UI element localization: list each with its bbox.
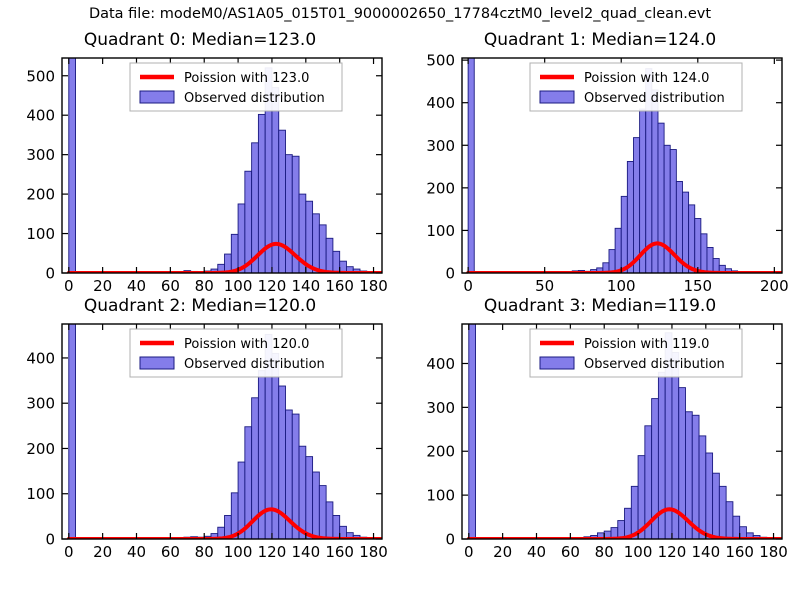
- subplot-title-quadrant-1: Quadrant 1: Median=124.0: [400, 30, 800, 50]
- x-tick-label: 40: [127, 277, 146, 295]
- histogram-bar: [299, 446, 306, 539]
- y-tick-label: 500: [26, 67, 55, 85]
- x-tick-label: 100: [624, 543, 653, 561]
- histogram-bar: [664, 145, 670, 273]
- legend-patch-swatch: [540, 91, 574, 103]
- y-tick-label: 100: [426, 487, 455, 505]
- histogram-bar: [238, 204, 245, 273]
- histogram-bar: [231, 234, 238, 273]
- x-tick-label: 150: [683, 277, 712, 295]
- histogram-bar: [609, 250, 615, 273]
- histogram-bar: [69, 30, 76, 273]
- x-tick-label: 160: [725, 543, 754, 561]
- y-tick-label: 500: [426, 52, 455, 70]
- x-tick-label: 20: [93, 277, 112, 295]
- histogram-bar: [621, 196, 627, 273]
- x-tick-label: 140: [291, 277, 320, 295]
- histogram-bar: [699, 436, 706, 539]
- x-tick-label: 40: [527, 543, 546, 561]
- y-tick-label: 200: [426, 443, 455, 461]
- y-tick-label: 100: [26, 225, 55, 243]
- histogram-bar: [245, 171, 252, 273]
- x-tick-label: 60: [161, 543, 180, 561]
- histogram-bar: [326, 502, 333, 539]
- y-tick-label: 0: [445, 531, 455, 549]
- x-tick-label: 20: [493, 543, 512, 561]
- y-tick-label: 0: [45, 265, 55, 283]
- histogram-bar: [713, 473, 720, 539]
- y-tick-label: 100: [26, 485, 55, 503]
- subplot-quadrant-1: Quadrant 1: Median=124.0 050100150200010…: [400, 30, 800, 300]
- histogram-bar: [313, 214, 320, 273]
- histogram-bar: [706, 453, 713, 539]
- legend-label-observed: Observed distribution: [184, 91, 325, 106]
- histogram-bar: [285, 155, 292, 273]
- histogram-bar: [468, 30, 474, 273]
- y-tick-label: 200: [26, 186, 55, 204]
- figure-canvas: Data file: modeM0/AS1A05_015T01_90000026…: [0, 0, 800, 600]
- plot-area-quadrant-1: 0501001502000100200300400500Poission wit…: [400, 30, 800, 300]
- y-tick-label: 200: [426, 179, 455, 197]
- histogram-bar: [319, 486, 326, 539]
- x-tick-label: 50: [535, 277, 554, 295]
- legend[interactable]: Poission with 120.0Observed distribution: [130, 329, 342, 377]
- legend-label-poisson: Poission with 124.0: [584, 71, 709, 86]
- x-tick-label: 140: [691, 543, 720, 561]
- y-tick-label: 0: [445, 265, 455, 283]
- y-tick-label: 400: [26, 107, 55, 125]
- legend-label-poisson: Poission with 120.0: [184, 337, 309, 352]
- plot-area-quadrant-2: 0204060801001201401601800100200300400Poi…: [0, 296, 400, 566]
- subplot-quadrant-0: Quadrant 0: Median=123.0 020406080100120…: [0, 30, 400, 300]
- histogram-bar: [658, 123, 664, 273]
- histogram-bar: [719, 486, 726, 539]
- histogram-bar: [692, 415, 699, 539]
- histogram-bar: [319, 225, 326, 273]
- y-tick-label: 100: [426, 222, 455, 240]
- y-tick-label: 0: [45, 531, 55, 549]
- legend-patch-swatch: [540, 357, 574, 369]
- x-tick-label: 200: [760, 277, 789, 295]
- x-tick-label: 140: [291, 543, 320, 561]
- legend-label-observed: Observed distribution: [584, 91, 725, 106]
- histogram-bar: [313, 472, 320, 539]
- x-tick-label: 60: [561, 543, 580, 561]
- histogram-bar: [326, 238, 333, 273]
- histogram-bar: [333, 251, 340, 273]
- histogram-bar: [707, 247, 713, 273]
- x-tick-label: 100: [224, 277, 253, 295]
- histogram-bar: [306, 457, 313, 539]
- x-tick-label: 80: [595, 543, 614, 561]
- figure-suptitle: Data file: modeM0/AS1A05_015T01_90000026…: [0, 6, 800, 22]
- histogram-bar: [689, 205, 695, 273]
- x-tick-label: 0: [64, 543, 74, 561]
- legend-patch-swatch: [140, 91, 174, 103]
- x-tick-label: 120: [258, 543, 287, 561]
- y-tick-label: 300: [426, 137, 455, 155]
- x-tick-label: 40: [127, 543, 146, 561]
- y-tick-label: 400: [426, 355, 455, 373]
- histogram-bar: [279, 130, 286, 273]
- subplot-title-quadrant-2: Quadrant 2: Median=120.0: [0, 296, 400, 316]
- histogram-bar: [292, 414, 299, 539]
- legend-label-poisson: Poission with 123.0: [184, 71, 309, 86]
- x-tick-label: 0: [464, 543, 474, 561]
- y-tick-label: 300: [26, 395, 55, 413]
- legend[interactable]: Poission with 124.0Observed distribution: [530, 63, 742, 111]
- plot-area-quadrant-3: 0204060801001201401601800100200300400Poi…: [400, 296, 800, 566]
- x-tick-label: 80: [195, 277, 214, 295]
- x-tick-label: 0: [64, 277, 74, 295]
- x-tick-label: 100: [224, 543, 253, 561]
- histogram-bar: [633, 138, 639, 273]
- legend-label-observed: Observed distribution: [184, 357, 325, 372]
- y-tick-label: 400: [426, 94, 455, 112]
- legend[interactable]: Poission with 123.0Observed distribution: [130, 63, 342, 111]
- x-tick-label: 20: [93, 543, 112, 561]
- legend[interactable]: Poission with 119.0Observed distribution: [530, 329, 742, 377]
- legend-patch-swatch: [140, 357, 174, 369]
- histogram-bar: [615, 228, 621, 273]
- x-tick-label: 120: [258, 277, 287, 295]
- y-tick-label: 300: [26, 146, 55, 164]
- histogram-bar: [695, 219, 701, 273]
- histogram-bar: [627, 161, 633, 273]
- x-tick-label: 0: [463, 277, 473, 295]
- legend-label-observed: Observed distribution: [584, 357, 725, 372]
- x-tick-label: 60: [161, 277, 180, 295]
- plot-area-quadrant-0: 0204060801001201401601800100200300400500…: [0, 30, 400, 300]
- histogram-bar: [469, 296, 476, 539]
- legend-label-poisson: Poission with 119.0: [584, 337, 709, 352]
- histogram-bar: [69, 296, 76, 539]
- x-tick-label: 180: [359, 543, 388, 561]
- histogram-bar: [333, 515, 340, 539]
- y-tick-label: 400: [26, 349, 55, 367]
- x-tick-label: 160: [325, 277, 354, 295]
- y-tick-label: 200: [26, 440, 55, 458]
- histogram-bar: [726, 502, 733, 539]
- x-tick-label: 180: [759, 543, 788, 561]
- histogram-bar: [733, 516, 740, 539]
- x-tick-label: 120: [658, 543, 687, 561]
- x-tick-label: 100: [607, 277, 636, 295]
- histogram-bar: [701, 234, 707, 273]
- subplot-quadrant-3: Quadrant 3: Median=119.0 020406080100120…: [400, 296, 800, 566]
- subplot-quadrant-2: Quadrant 2: Median=120.0 020406080100120…: [0, 296, 400, 566]
- histogram-bar: [306, 201, 313, 273]
- subplot-title-quadrant-0: Quadrant 0: Median=123.0: [0, 30, 400, 50]
- x-tick-label: 160: [325, 543, 354, 561]
- x-tick-label: 180: [359, 277, 388, 295]
- subplot-title-quadrant-3: Quadrant 3: Median=119.0: [400, 296, 800, 316]
- x-tick-label: 80: [195, 543, 214, 561]
- y-tick-label: 300: [426, 399, 455, 417]
